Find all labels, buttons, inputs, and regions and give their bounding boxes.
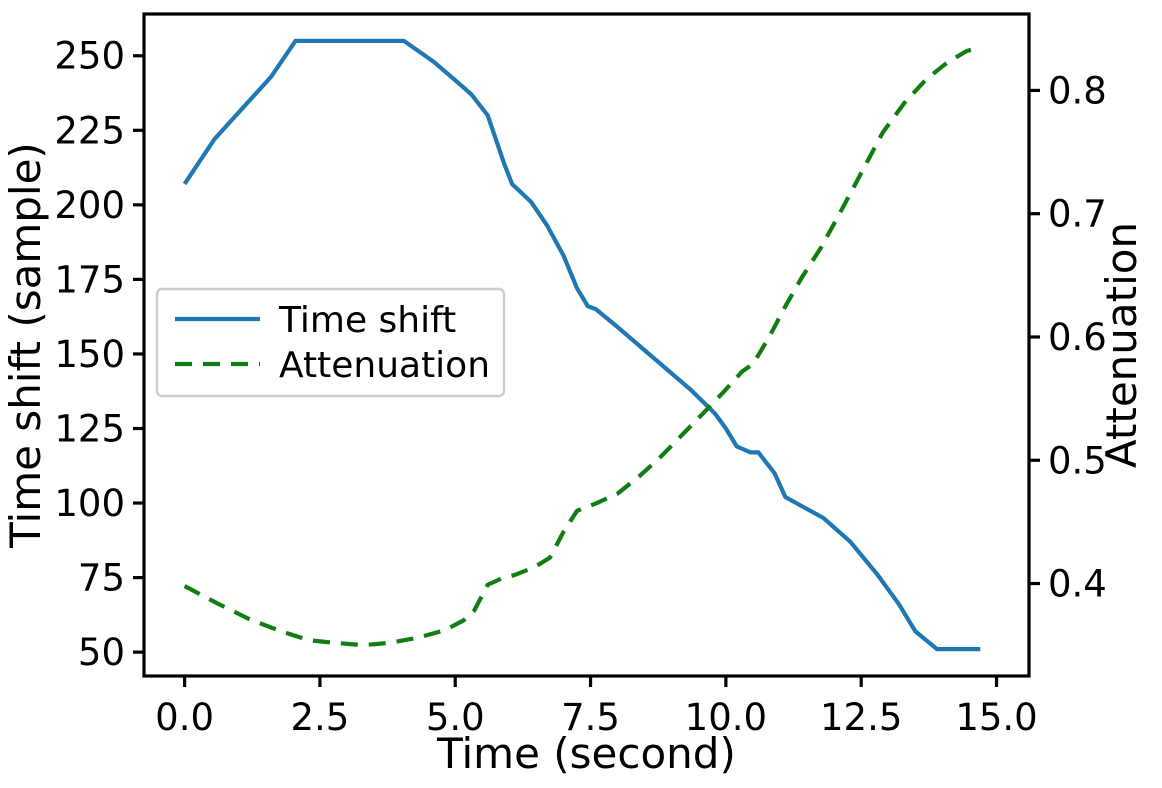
x-axis-title: Time (second) [436,729,736,778]
y-axis-title: Time shift (sample) [1,142,50,549]
x-tick-label: 2.5 [290,696,349,739]
y2-tick-label: 0.4 [1048,563,1107,606]
y-tick-label: 225 [54,109,125,152]
x-tick-label: 0.0 [155,696,214,739]
y-tick-label: 75 [78,557,125,600]
x-tick-label: 12.5 [820,696,902,739]
figure-container: 0.02.55.07.510.012.515.0 507510012515017… [0,0,1162,788]
y-tick-label: 200 [54,184,125,227]
axis-labels-layer: Time (second)Time shift (sample)Attenuat… [1,142,1146,778]
legend-label-time-shift: Time shift [278,300,456,341]
y2-axis-title: Attenuation [1097,222,1146,468]
y-tick-label: 125 [54,407,125,450]
y-tick-label: 175 [54,258,125,301]
y-axis-ticks: 5075100125150175200225250 [54,35,144,674]
y-tick-label: 50 [78,631,125,674]
y-tick-label: 150 [54,333,125,376]
chart-canvas: 0.02.55.07.510.012.515.0 507510012515017… [0,0,1162,788]
y-tick-label: 100 [54,482,125,525]
y2-tick-label: 0.8 [1048,69,1107,112]
chart-legend: Time shiftAttenuation [157,289,504,396]
legend-label-attenuation: Attenuation [279,345,490,386]
x-tick-label: 15.0 [955,696,1037,739]
y-tick-label: 250 [54,35,125,78]
y2-axis-ticks: 0.40.50.60.70.8 [1029,69,1107,605]
